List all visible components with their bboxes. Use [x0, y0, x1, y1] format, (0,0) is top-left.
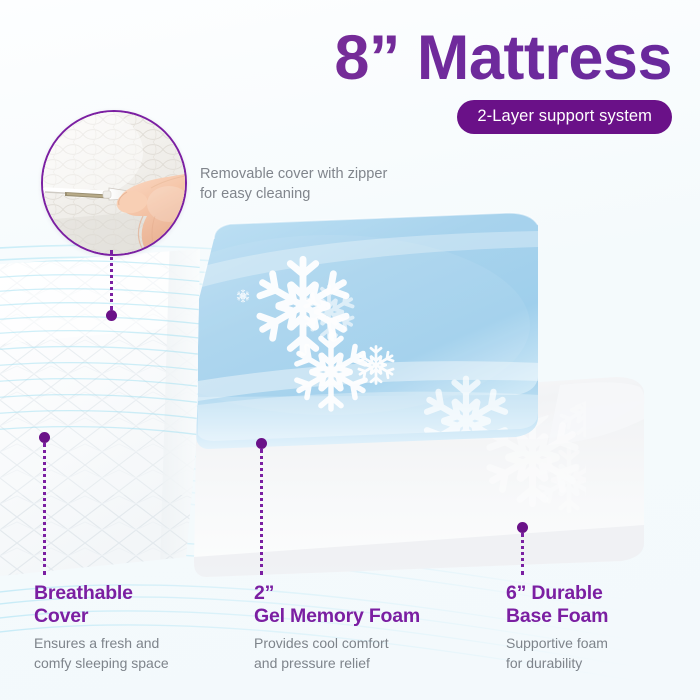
- feature-title: 2” Gel Memory Foam: [254, 582, 469, 628]
- connector-dot-gel-memory-foam: [256, 438, 267, 449]
- mattress-illustration: [0, 205, 700, 595]
- title-block: 8” Mattress 2-Layer support system: [202, 26, 672, 134]
- connector-line-base-foam: [521, 533, 524, 575]
- feature-desc-line-2: for durability: [506, 655, 582, 671]
- feature-title-line-2: Gel Memory Foam: [254, 605, 420, 627]
- zipper-callout-caption: Removable cover with zipper for easy cle…: [200, 164, 440, 204]
- connector-dot-breathable-cover: [39, 432, 50, 443]
- zipper-caption-line-1: Removable cover with zipper: [200, 164, 440, 184]
- zipper-caption-line-2: for easy cleaning: [200, 184, 440, 204]
- status-badge: 2-Layer support system: [457, 100, 672, 134]
- zipper-callout-circle: [41, 110, 187, 256]
- connector-line-gel-memory-foam: [260, 449, 263, 575]
- feature-title-line-1: 6” Durable: [506, 582, 603, 604]
- zipper-connector-line: [110, 250, 113, 310]
- feature-title-line-1: Breathable: [34, 582, 133, 604]
- feature-durable-base-foam: 6” Durable Base Foam Supportive foam for…: [506, 582, 686, 674]
- zipper-connector-dot: [106, 310, 117, 321]
- feature-title-line-1: 2”: [254, 582, 274, 604]
- feature-title-line-2: Base Foam: [506, 605, 608, 627]
- feature-desc-line-1: Ensures a fresh and: [34, 635, 159, 651]
- feature-description: Supportive foam for durability: [506, 634, 686, 674]
- feature-gel-memory-foam: 2” Gel Memory Foam Provides cool comfort…: [254, 582, 469, 674]
- feature-title: Breathable Cover: [34, 582, 224, 628]
- feature-description: Ensures a fresh and comfy sleeping space: [34, 634, 224, 674]
- feature-title: 6” Durable Base Foam: [506, 582, 686, 628]
- connector-dot-base-foam: [517, 522, 528, 533]
- feature-title-line-2: Cover: [34, 605, 88, 627]
- page-title: 8” Mattress: [202, 26, 672, 90]
- infographic-canvas: 8” Mattress 2-Layer support system: [0, 0, 700, 700]
- feature-description: Provides cool comfort and pressure relie…: [254, 634, 469, 674]
- feature-desc-line-1: Supportive foam: [506, 635, 608, 651]
- feature-breathable-cover: Breathable Cover Ensures a fresh and com…: [34, 582, 224, 674]
- feature-desc-line-2: comfy sleeping space: [34, 655, 169, 671]
- zipper-photo: [43, 112, 185, 254]
- feature-desc-line-2: and pressure relief: [254, 655, 370, 671]
- connector-line-breathable-cover: [43, 443, 46, 575]
- feature-desc-line-1: Provides cool comfort: [254, 635, 389, 651]
